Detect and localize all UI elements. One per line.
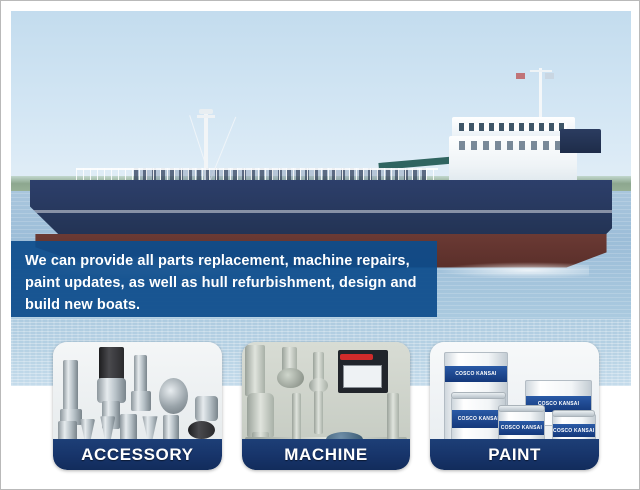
marine-services-page: We can provide all parts replacement, ma… bbox=[0, 0, 640, 490]
deck-line bbox=[30, 210, 613, 213]
paint-brand-text: COSCO KANSAI bbox=[553, 428, 594, 434]
category-label-paint: PAINT bbox=[430, 439, 599, 470]
can-lid bbox=[451, 392, 507, 399]
category-label-machine: MACHINE bbox=[242, 439, 411, 470]
stern-wake bbox=[438, 262, 590, 279]
superstructure bbox=[449, 136, 577, 187]
category-label-text: MACHINE bbox=[284, 445, 368, 465]
aft-mast bbox=[539, 68, 542, 119]
caption-text: We can provide all parts replacement, ma… bbox=[25, 250, 423, 317]
can-lid bbox=[498, 405, 545, 412]
signal-flag bbox=[545, 73, 554, 79]
paint-brand-text: COSCO KANSAI bbox=[501, 425, 542, 431]
category-panels: ACCESSORY bbox=[53, 342, 599, 470]
signal-flag bbox=[516, 73, 525, 79]
category-card-accessory[interactable]: ACCESSORY bbox=[53, 342, 222, 470]
category-label-accessory: ACCESSORY bbox=[53, 439, 222, 470]
paint-brand-text: COSCO KANSAI bbox=[458, 416, 499, 422]
can-lid bbox=[552, 410, 596, 417]
category-label-text: PAINT bbox=[488, 445, 541, 465]
category-label-text: ACCESSORY bbox=[81, 445, 193, 465]
category-card-machine[interactable]: MACHINE bbox=[242, 342, 411, 470]
category-card-paint[interactable]: COSCO KANSAI COSCO KANSAI COSCO KANSAI bbox=[430, 342, 599, 470]
funnel bbox=[560, 129, 601, 153]
caption-banner: We can provide all parts replacement, ma… bbox=[11, 241, 437, 317]
paint-brand-text: COSCO KANSAI bbox=[455, 371, 496, 377]
